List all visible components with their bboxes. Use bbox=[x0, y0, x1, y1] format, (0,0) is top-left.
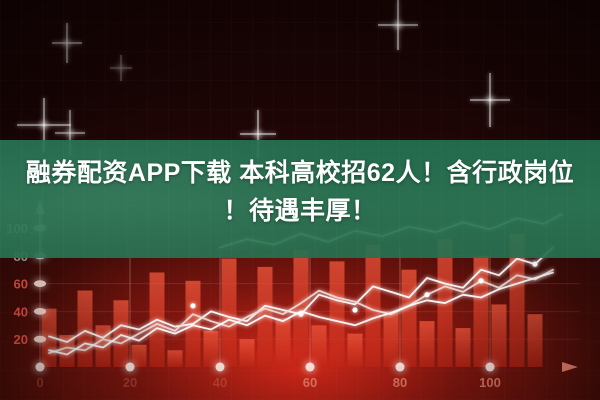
title-line-1: 融券配资APP下载 本科高校招62人！含行政岗位 bbox=[26, 159, 574, 187]
y-axis-tick-label: 40 bbox=[14, 304, 28, 319]
bar bbox=[474, 256, 489, 367]
x-axis-tick-label: 80 bbox=[393, 375, 407, 390]
data-point bbox=[298, 312, 303, 317]
bar bbox=[420, 321, 435, 367]
x-axis-tick-label: 0 bbox=[36, 375, 43, 390]
bar bbox=[132, 345, 147, 367]
bar bbox=[312, 325, 327, 367]
bar bbox=[222, 259, 237, 367]
arrow-icon bbox=[562, 362, 578, 372]
bar bbox=[492, 304, 507, 367]
y-axis-tick-label: 60 bbox=[14, 277, 28, 292]
title-line-2: ！待遇丰厚！ bbox=[16, 192, 584, 230]
bar bbox=[384, 311, 399, 367]
bar bbox=[114, 300, 129, 367]
bar bbox=[276, 318, 291, 367]
page-title: 融券配资APP下载 本科高校招62人！含行政岗位！待遇丰厚！ bbox=[0, 140, 600, 258]
bar bbox=[456, 328, 471, 367]
x-axis-tick-label: 100 bbox=[479, 375, 501, 390]
data-point bbox=[190, 303, 195, 308]
bar bbox=[402, 270, 417, 367]
bar bbox=[240, 339, 255, 367]
data-point bbox=[352, 307, 357, 312]
bar bbox=[204, 331, 219, 367]
bar bbox=[168, 350, 183, 367]
bar bbox=[366, 245, 381, 367]
data-point bbox=[424, 292, 429, 297]
bar bbox=[528, 314, 543, 367]
bar bbox=[78, 291, 93, 367]
x-axis-tick-label: 40 bbox=[213, 375, 227, 390]
y-axis-tick-label: 20 bbox=[14, 332, 28, 347]
data-point bbox=[478, 278, 483, 283]
x-axis-tick-label: 20 bbox=[123, 375, 137, 390]
banner-image: 20406080100020406080100 融券配资APP下载 本科高校招6… bbox=[0, 0, 600, 400]
data-point bbox=[532, 262, 537, 267]
x-axis-tick-label: 60 bbox=[303, 375, 317, 390]
bar bbox=[348, 334, 363, 367]
bar bbox=[330, 261, 345, 367]
